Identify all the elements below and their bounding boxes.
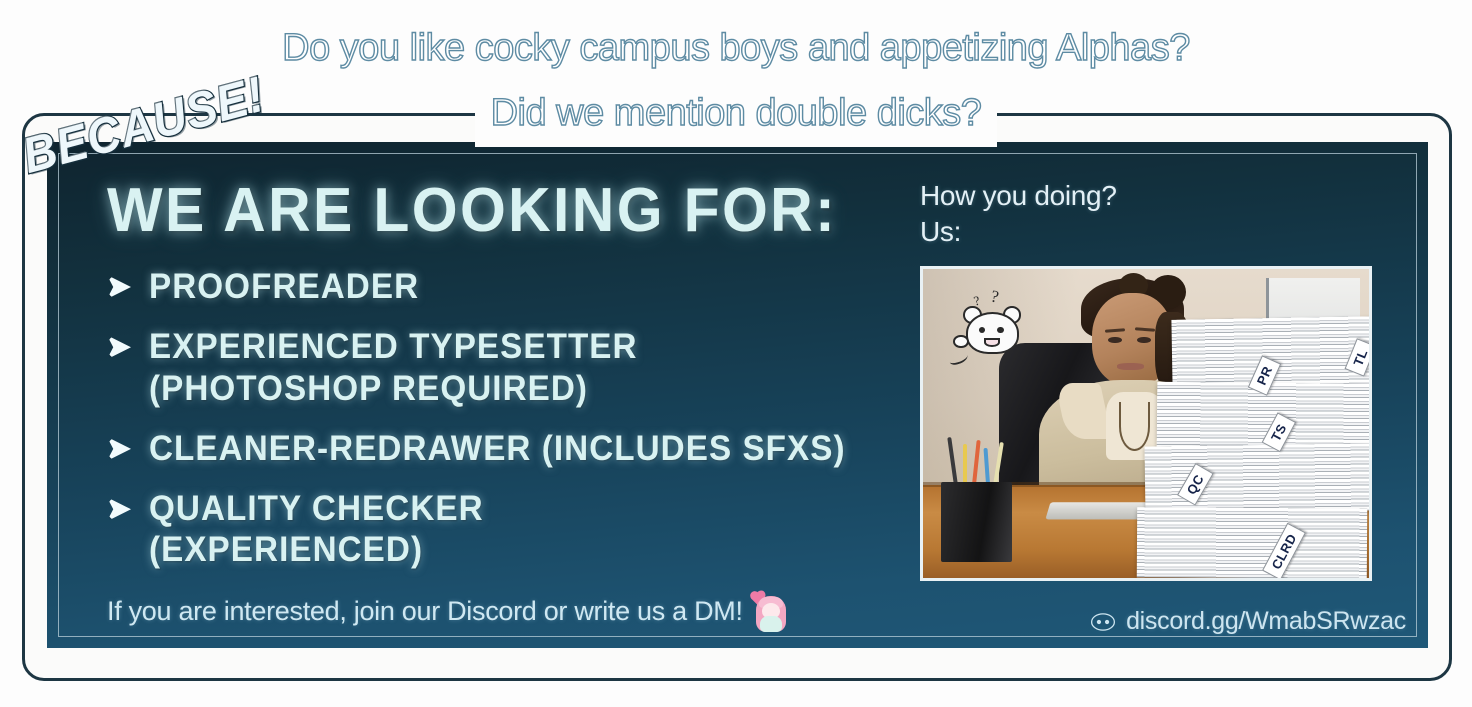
list-item: PROOFREADER <box>107 266 937 307</box>
reaction-answer: Us: <box>920 214 1390 250</box>
role-label: CLEANER-REDRAWER (INCLUDES SFXS) <box>149 429 846 468</box>
role-list: PROOFREADER EXPERIENCED TYPESETTER (PHOT… <box>107 266 937 571</box>
paper-stack: TL PR TS QC CLRD <box>1137 318 1372 578</box>
recruitment-banner: Do you like cocky campus boys and appeti… <box>0 0 1472 707</box>
role-text: PROOFREADER <box>149 266 419 307</box>
bullet-arrow-icon <box>107 497 133 523</box>
role-label: EXPERIENCED TYPESETTER <box>149 327 638 366</box>
meme-scene: ? ? <box>923 269 1369 578</box>
role-sublabel: (EXPERIENCED) <box>149 529 484 570</box>
role-text: EXPERIENCED TYPESETTER (PHOTOSHOP REQUIR… <box>149 326 638 409</box>
bullet-arrow-icon <box>107 437 133 463</box>
bullet-arrow-icon <box>107 275 133 301</box>
anime-girl-sticker-icon <box>751 590 791 634</box>
headline-line-1: Do you like cocky campus boys and appeti… <box>0 16 1472 81</box>
list-item: EXPERIENCED TYPESETTER (PHOTOSHOP REQUIR… <box>107 326 937 409</box>
role-label: PROOFREADER <box>149 267 419 306</box>
recruitment-title: WE ARE LOOKING FOR: <box>107 180 896 242</box>
reaction-question: How you doing? <box>920 178 1390 214</box>
headline-line-1-text: Do you like cocky campus boys and appeti… <box>266 16 1206 81</box>
reaction-column: How you doing? Us: <box>920 178 1390 581</box>
list-item: QUALITY CHECKER (EXPERIENCED) <box>107 488 937 571</box>
meme-photo: ? ? <box>920 266 1372 581</box>
role-text: QUALITY CHECKER (EXPERIENCED) <box>149 488 484 571</box>
ghost-doodle-icon: ? ? <box>959 300 1030 368</box>
reaction-text-block: How you doing? Us: <box>920 178 1390 250</box>
pen-cup-shape <box>941 482 1012 562</box>
bullet-arrow-icon <box>107 335 133 361</box>
content-panel: WE ARE LOOKING FOR: PROOFREADER EXPERIEN… <box>47 142 1428 648</box>
discord-url-text[interactable]: discord.gg/WmabSRwzac <box>1126 607 1406 636</box>
list-item: CLEANER-REDRAWER (INCLUDES SFXS) <box>107 428 937 469</box>
role-text: CLEANER-REDRAWER (INCLUDES SFXS) <box>149 428 846 469</box>
recruitment-column: WE ARE LOOKING FOR: PROOFREADER EXPERIEN… <box>107 180 937 634</box>
discord-link[interactable]: discord.gg/WmabSRwzac <box>1090 607 1406 636</box>
discord-logo-icon <box>1090 612 1116 632</box>
call-to-action-text: If you are interested, join our Discord … <box>107 596 743 627</box>
role-sublabel: (PHOTOSHOP REQUIRED) <box>149 368 638 409</box>
role-label: QUALITY CHECKER <box>149 489 484 528</box>
call-to-action: If you are interested, join our Discord … <box>107 590 937 634</box>
